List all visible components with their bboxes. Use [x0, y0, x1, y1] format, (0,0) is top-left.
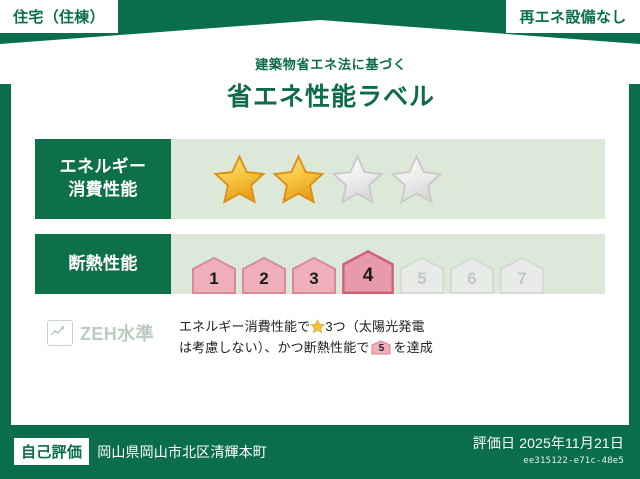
insulation-level-number: 5	[417, 269, 426, 294]
zeh-description: エネルギー消費性能で3つ（太陽光発電 は考慮しない）、かつ断熱性能で5を達成	[179, 312, 605, 359]
insulation-level-1: 1	[191, 256, 237, 294]
zeh-standard-row: ZEH水準 エネルギー消費性能で3つ（太陽光発電 は考慮しない）、かつ断熱性能で…	[35, 312, 605, 359]
insulation-level-inline-badge: 5	[371, 340, 391, 355]
insulation-level-scale: 1234567	[171, 234, 545, 294]
insulation-performance-value: 1234567	[171, 234, 605, 294]
zeh-desc-part-3: は考慮しない）、かつ断熱性能で	[179, 340, 369, 355]
footer-right-group: 評価日 2025年11月21日 ee315122-e71c-48e5	[473, 433, 624, 466]
zeh-desc-part-4: を達成	[393, 340, 432, 355]
insulation-level-number: 1	[209, 269, 218, 294]
star-icon-empty	[390, 154, 443, 204]
renewable-equipment-tag: 再エネ設備なし	[506, 0, 640, 33]
zeh-badge: ZEH水準	[35, 312, 179, 346]
energy-performance-row: エネルギー 消費性能	[35, 139, 605, 219]
star-icon	[310, 319, 325, 334]
insulation-level-4: 4	[341, 249, 395, 294]
inline-badge-number: 5	[371, 340, 391, 355]
insulation-level-number: 3	[309, 269, 318, 294]
star-rating	[171, 154, 443, 204]
star-icon-filled	[272, 154, 325, 204]
zeh-chart-icon	[47, 320, 73, 346]
evaluation-date: 評価日 2025年11月21日	[473, 433, 624, 453]
insulation-performance-label: 断熱性能	[35, 234, 171, 294]
property-address: 岡山県岡山市北区清輝本町	[97, 442, 267, 462]
insulation-level-7: 7	[499, 256, 545, 294]
insulation-level-5: 5	[399, 256, 445, 294]
zeh-label: ZEH水準	[80, 320, 154, 346]
energy-performance-label-card: 住宅（住棟） 再エネ設備なし 建築物省エネ法に基づく 省エネ性能ラベル エネルギ…	[0, 0, 640, 479]
star-icon-empty	[331, 154, 384, 204]
label-identifier: ee315122-e71c-48e5	[473, 456, 624, 466]
label-title: 建築物省エネ法に基づく 省エネ性能ラベル	[11, 54, 640, 113]
insulation-level-number: 4	[363, 265, 374, 294]
self-evaluation-badge: 自己評価	[14, 438, 89, 465]
label-title-main: 省エネ性能ラベル	[11, 77, 640, 113]
insulation-level-6: 6	[449, 256, 495, 294]
insulation-level-3: 3	[291, 256, 337, 294]
insulation-level-2: 2	[241, 256, 287, 294]
insulation-performance-row: 断熱性能 1234567	[35, 234, 605, 294]
energy-label-line-1: エネルギー	[60, 156, 147, 179]
insulation-level-number: 7	[517, 269, 526, 294]
building-type-tag: 住宅（住棟）	[0, 0, 118, 33]
star-icon-filled	[213, 154, 266, 204]
energy-label-line-2: 消費性能	[68, 179, 137, 202]
zeh-desc-part-1: エネルギー消費性能で	[179, 319, 310, 334]
label-sheet: 建築物省エネ法に基づく 省エネ性能ラベル エネルギー 消費性能 断熱性能	[11, 44, 629, 425]
zeh-desc-part-2: 3つ（太陽光発電	[325, 319, 424, 334]
energy-performance-label: エネルギー 消費性能	[35, 139, 171, 219]
footer-left-group: 自己評価 岡山県岡山市北区清輝本町	[14, 438, 267, 465]
insulation-level-number: 2	[259, 269, 268, 294]
label-title-sub: 建築物省エネ法に基づく	[11, 54, 640, 73]
insulation-level-number: 6	[467, 269, 476, 294]
insulation-label-text: 断熱性能	[68, 253, 137, 276]
energy-performance-value	[171, 139, 605, 219]
footer-bar: 自己評価 岡山県岡山市北区清輝本町 評価日 2025年11月21日 ee3151…	[0, 425, 640, 479]
